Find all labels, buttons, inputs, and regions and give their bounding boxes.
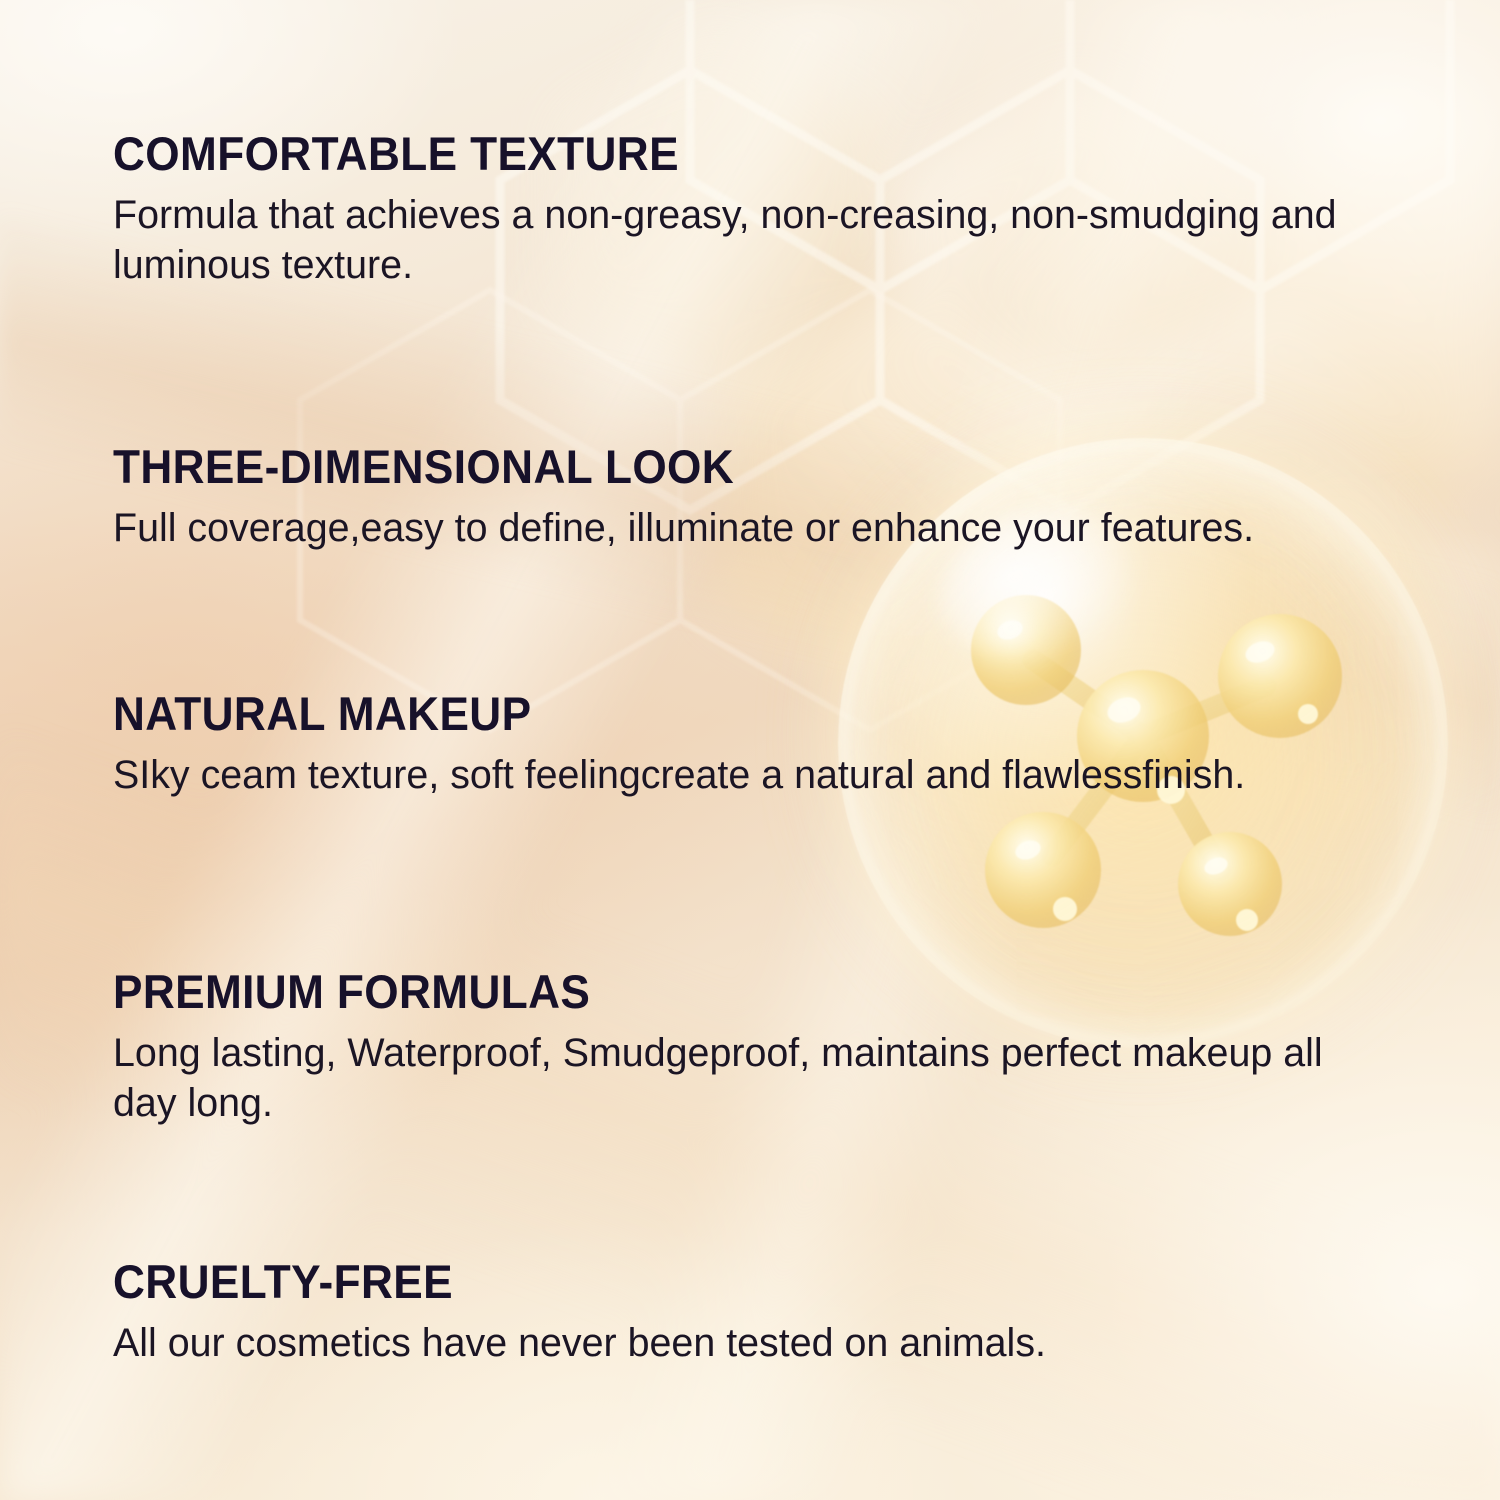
feature-block-natural-makeup: NATURAL MAKEUP SIky ceam texture, soft f… [113,690,1443,801]
feature-body: Formula that achieves a non-greasy, non-… [113,191,1394,290]
feature-body: SIky ceam texture, soft feelingcreate a … [113,751,1394,801]
feature-block-cruelty-free: CRUELTY-FREE All our cosmetics have neve… [113,1258,1443,1369]
feature-heading: COMFORTABLE TEXTURE [113,130,1363,177]
feature-block-comfortable-texture: COMFORTABLE TEXTURE Formula that achieve… [113,130,1443,290]
feature-body: All our cosmetics have never been tested… [113,1319,1394,1369]
feature-block-three-dimensional-look: THREE-DIMENSIONAL LOOK Full coverage,eas… [113,443,1443,554]
feature-block-premium-formulas: PREMIUM FORMULAS Long lasting, Waterproo… [113,968,1443,1128]
feature-heading: NATURAL MAKEUP [113,690,1363,737]
product-feature-banner: COMFORTABLE TEXTURE Formula that achieve… [0,0,1500,1500]
feature-body: Full coverage,easy to define, illuminate… [113,504,1394,554]
feature-heading: PREMIUM FORMULAS [113,968,1363,1015]
feature-heading: THREE-DIMENSIONAL LOOK [113,443,1363,490]
feature-list: COMFORTABLE TEXTURE Formula that achieve… [0,0,1500,1500]
feature-heading: CRUELTY-FREE [113,1258,1363,1305]
feature-body: Long lasting, Waterproof, Smudgeproof, m… [113,1029,1394,1128]
